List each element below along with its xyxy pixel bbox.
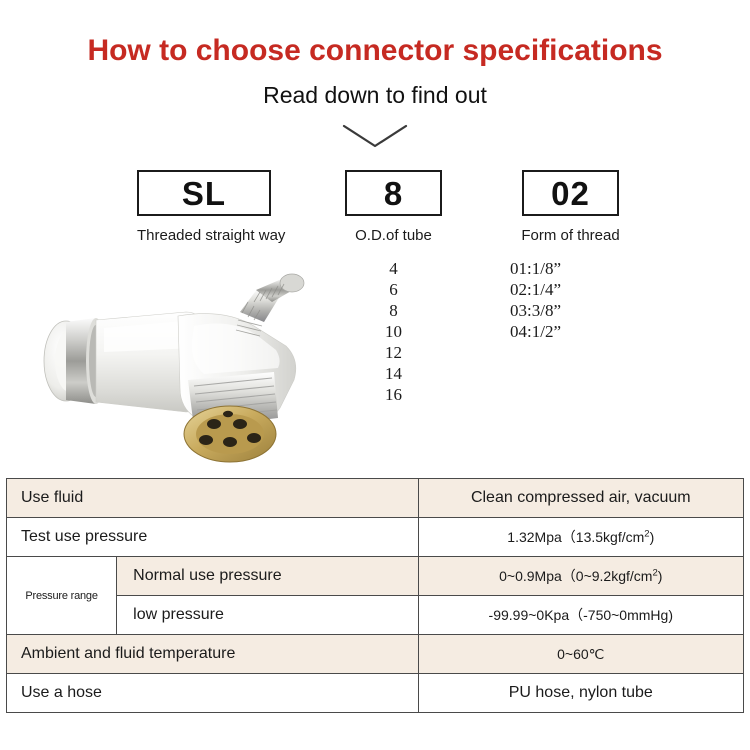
caption-tube-od: O.D.of tube — [335, 227, 452, 244]
spec-value-tail: ) — [650, 529, 655, 545]
caption-series: Threaded straight way — [137, 227, 271, 244]
code-box-thread: 02 — [522, 170, 619, 216]
table-row: Pressure range Normal use pressure 0~0.9… — [7, 557, 744, 596]
code-box-tube-od: 8 — [345, 170, 442, 216]
spec-value: 0~0.9Mpa（0~9.2kgf/cm2) — [418, 557, 743, 596]
option-item: 4 — [345, 258, 442, 279]
table-row: low pressure -99.99~0Kpa（-750~0mmHg) — [7, 596, 744, 635]
caption-thread: Form of thread — [507, 227, 634, 244]
spec-label: Test use pressure — [7, 518, 419, 557]
option-list-tube-od: 4 6 8 10 12 14 16 — [345, 258, 442, 405]
spec-group-label: Pressure range — [7, 557, 117, 635]
table-row: Use a hose PU hose, nylon tube — [7, 674, 744, 713]
option-item: 02:1/4” — [510, 279, 635, 300]
code-box-series: SL — [137, 170, 271, 216]
table-row: Ambient and fluid temperature 0~60℃ — [7, 635, 744, 674]
code-box-tube-od-text: 8 — [384, 177, 403, 210]
spec-sub-label: low pressure — [117, 596, 418, 635]
option-item: 12 — [345, 342, 442, 363]
product-photo — [18, 268, 324, 470]
table-row: Test use pressure 1.32Mpa（13.5kgf/cm2) — [7, 518, 744, 557]
spec-value-tail: ) — [658, 568, 663, 584]
option-item: 04:1/2” — [510, 321, 635, 342]
page-subtitle: Read down to find out — [0, 82, 750, 109]
spec-value: Clean compressed air, vacuum — [418, 479, 743, 518]
spec-value: 1.32Mpa（13.5kgf/cm2) — [418, 518, 743, 557]
option-item: 10 — [345, 321, 442, 342]
option-list-thread: 01:1/8” 02:1/4” 03:3/8” 04:1/2” — [510, 258, 635, 342]
table-row: Use fluid Clean compressed air, vacuum — [7, 479, 744, 518]
spec-label: Ambient and fluid temperature — [7, 635, 419, 674]
page-title: How to choose connector specifications — [0, 34, 750, 68]
spec-value: PU hose, nylon tube — [418, 674, 743, 713]
spec-value: 0~60℃ — [418, 635, 743, 674]
spec-label: Use fluid — [7, 479, 419, 518]
option-item: 8 — [345, 300, 442, 321]
spec-sub-label: Normal use pressure — [117, 557, 418, 596]
spec-label: Use a hose — [7, 674, 419, 713]
code-box-thread-text: 02 — [551, 177, 590, 210]
option-item: 03:3/8” — [510, 300, 635, 321]
specifications-table: Use fluid Clean compressed air, vacuum T… — [6, 478, 744, 713]
spec-value-main: 0~0.9Mpa（0~9.2kgf/cm — [499, 568, 652, 584]
spec-value-main: 1.32Mpa（13.5kgf/cm — [507, 529, 644, 545]
spec-value: -99.99~0Kpa（-750~0mmHg) — [418, 596, 743, 635]
option-item: 16 — [345, 384, 442, 405]
option-item: 14 — [345, 363, 442, 384]
chevron-down-icon — [340, 120, 410, 154]
code-box-series-text: SL — [182, 177, 226, 210]
option-item: 6 — [345, 279, 442, 300]
option-item: 01:1/8” — [510, 258, 635, 279]
